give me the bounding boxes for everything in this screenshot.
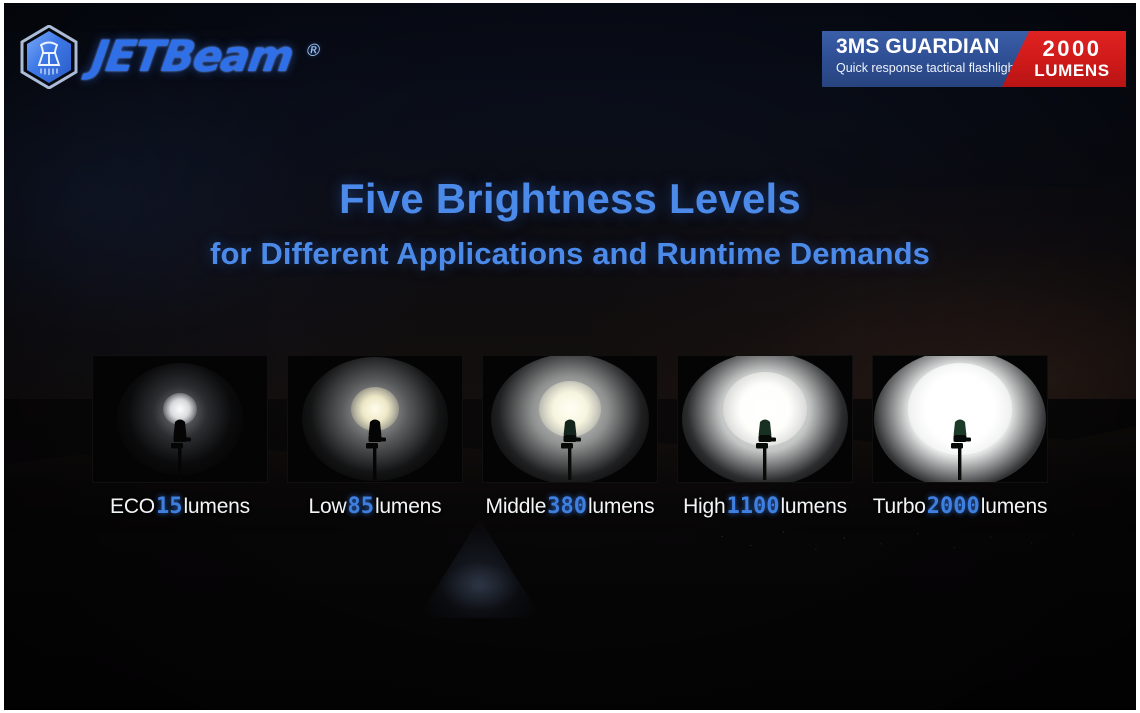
level-lumens: 85	[346, 494, 375, 519]
page-subtitle: for Different Applications and Runtime D…	[4, 236, 1136, 272]
beamshot-photo	[677, 355, 853, 483]
hydrant-silhouette	[752, 414, 778, 480]
level-name: ECO	[110, 495, 155, 519]
badge-lumens-unit: LUMENS	[1034, 61, 1109, 80]
level-caption: ECO 15 lumens	[110, 494, 250, 519]
hydrant-silhouette	[362, 414, 388, 480]
level-unit: lumens	[780, 495, 847, 519]
level-unit: lumens	[375, 495, 442, 519]
brand-logo: JETBeam®	[20, 25, 319, 89]
level-lumens: 15	[155, 494, 184, 519]
level-caption: Low 85 lumens	[309, 494, 442, 519]
badge-model-name: 3MS GUARDIAN	[836, 36, 1034, 59]
wordmark-text: JETBeam	[88, 32, 296, 82]
hydrant-silhouette	[947, 414, 973, 480]
level-lumens: 1100	[725, 494, 780, 519]
beamshot-photo	[92, 355, 268, 483]
brightness-level-item: Low 85 lumens	[287, 355, 463, 519]
level-name: Low	[309, 495, 347, 519]
hydrant-silhouette	[557, 414, 583, 480]
page-title: Five Brightness Levels	[4, 175, 1136, 222]
level-unit: lumens	[588, 495, 655, 519]
registered-trademark-icon: ®	[303, 41, 322, 61]
level-unit: lumens	[981, 495, 1048, 519]
beamshot-photo	[287, 355, 463, 483]
level-lumens: 380	[546, 494, 588, 519]
badge-tagline: Quick response tactical flashlight	[836, 61, 1034, 76]
brightness-level-item: Middle 380 lumens	[482, 355, 658, 519]
level-name: Turbo	[873, 495, 926, 519]
level-caption: High 1100 lumens	[683, 494, 847, 519]
level-name: Middle	[486, 495, 547, 519]
level-name: High	[683, 495, 725, 519]
brightness-level-item: Turbo 2000 lumens	[872, 355, 1048, 519]
jetbeam-hex-lamp-icon	[20, 25, 78, 89]
brightness-level-item: High 1100 lumens	[677, 355, 853, 519]
badge-model-section: 3MS GUARDIAN Quick response tactical fla…	[822, 31, 1034, 87]
brightness-level-row: ECO 15 lumens	[4, 355, 1136, 519]
level-lumens: 2000	[926, 494, 981, 519]
product-badge: 3MS GUARDIAN Quick response tactical fla…	[822, 31, 1126, 87]
beamshot-photo	[482, 355, 658, 483]
level-caption: Turbo 2000 lumens	[873, 494, 1048, 519]
beamshot-photo	[872, 355, 1048, 483]
level-unit: lumens	[183, 495, 250, 519]
product-poster: JETBeam® 3MS GUARDIAN Quick response tac…	[4, 3, 1136, 710]
brightness-level-item: ECO 15 lumens	[92, 355, 268, 519]
level-caption: Middle 380 lumens	[486, 494, 655, 519]
brand-wordmark: JETBeam®	[88, 32, 323, 82]
image-frame: JETBeam® 3MS GUARDIAN Quick response tac…	[0, 0, 1140, 713]
headline-block: Five Brightness Levels for Different App…	[4, 175, 1136, 272]
hydrant-silhouette	[167, 414, 193, 480]
badge-lumens-value: 2000	[1043, 38, 1102, 60]
